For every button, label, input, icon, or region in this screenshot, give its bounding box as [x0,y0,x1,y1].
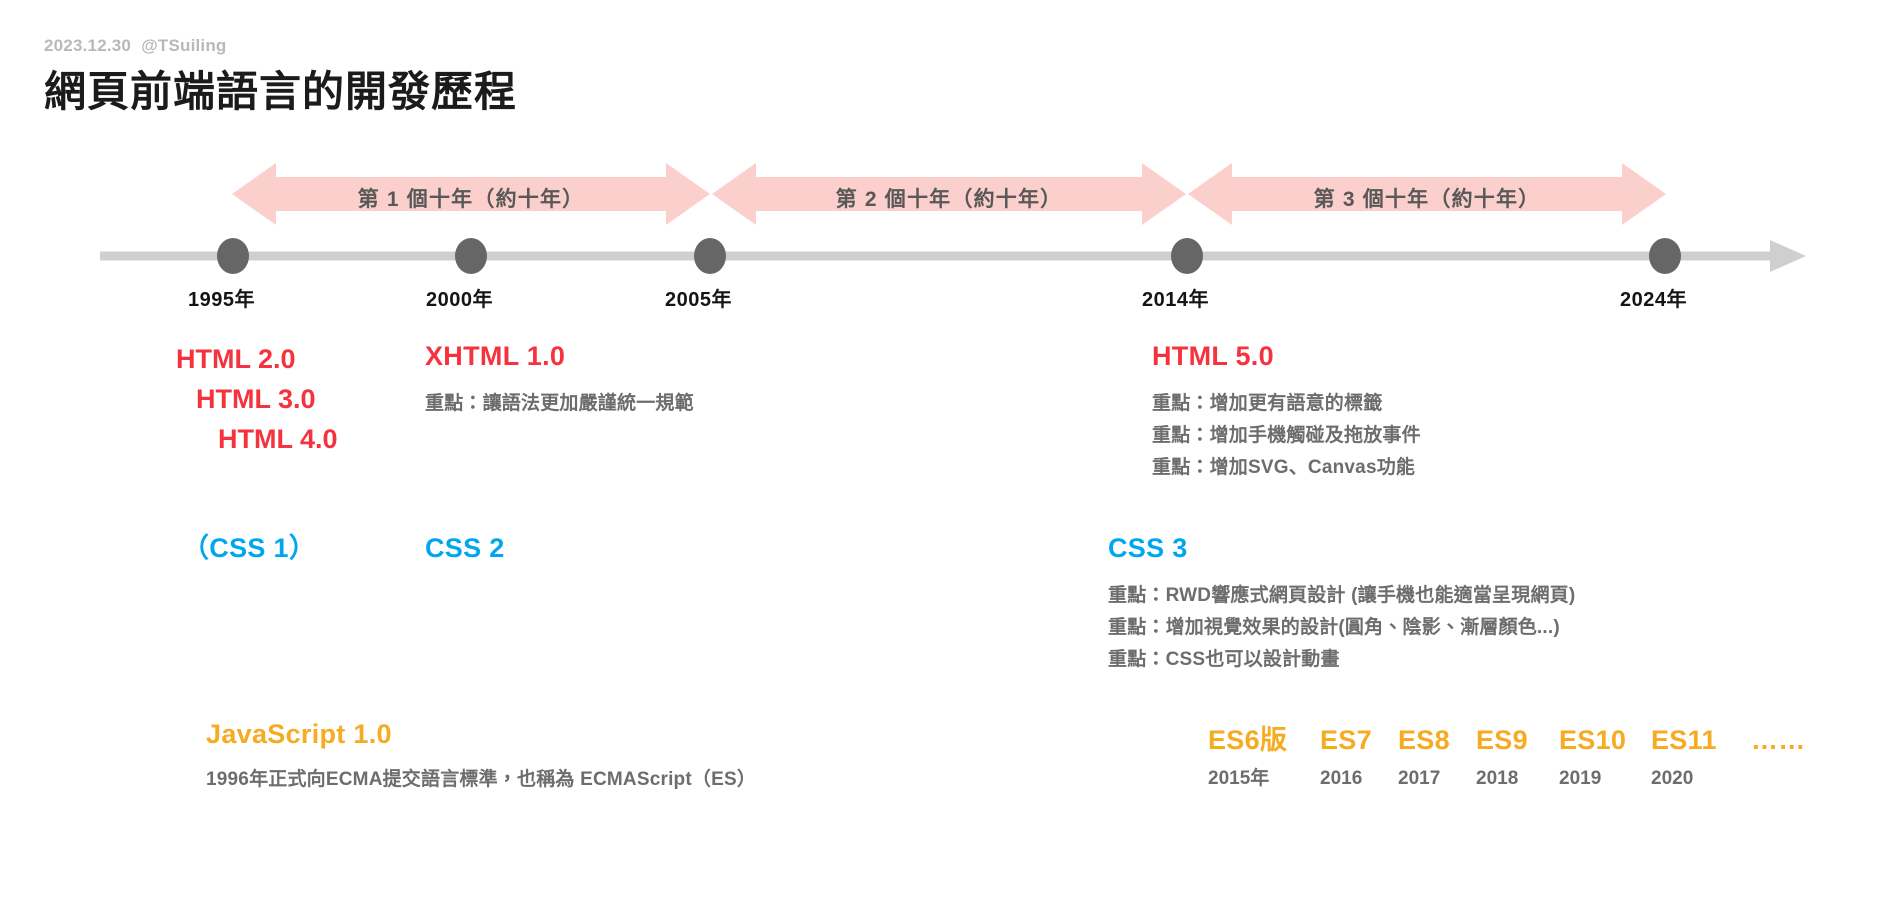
es-year-2019: 2019 [1559,768,1651,790]
xhtml-heading: XHTML 1.0 [425,340,694,374]
timeline-dot-1995[interactable] [217,238,249,274]
es-name-es10: ES10 [1559,725,1651,756]
html5-note-1: 重點：增加更有語意的標籤 [1152,388,1421,420]
html5-note-3: 重點：增加SVG、Canvas功能 [1152,452,1421,484]
es-year-2015: 2015年 [1208,763,1320,790]
es-name-es9: ES9 [1476,725,1559,756]
javascript-note-1: 1996年正式向ECMA提交語言標準，也稱為 ECMAScript（ES） [206,764,756,796]
timeline-label-2005: 2005年 [665,283,732,312]
css3-note-1: 重點：RWD響應式網頁設計 (讓手機也能適當呈現網頁) [1108,580,1575,612]
timeline-label-2024: 2024年 [1620,283,1687,312]
css2-heading: CSS 2 [425,532,505,566]
html-version-4: HTML 4.0 [176,420,338,460]
timeline-dot-2014[interactable] [1171,238,1203,274]
timeline-dot-2000[interactable] [455,238,487,274]
timeline-dot-2024[interactable] [1649,238,1681,274]
html-version-3: HTML 3.0 [176,380,338,420]
ecmascript-version-names: ES6版ES7ES8ES9ES10ES11…… [1208,718,1806,757]
ecmascript-version-years: 2015年20162017201820192020 [1208,763,1806,790]
es-year-2016: 2016 [1320,768,1398,790]
html-versions-1995-block: HTML 2.0 HTML 3.0 HTML 4.0 [176,340,338,460]
timeline-axis [0,0,1900,300]
timeline-label-1995: 1995年 [188,283,255,312]
es-name-es6: ES6版 [1208,718,1320,757]
javascript-1995-block: JavaScript 1.0 1996年正式向ECMA提交語言標準，也稱為 EC… [206,718,756,796]
html5-2014-block: HTML 5.0 重點：增加更有語意的標籤 重點：增加手機觸碰及拖放事件 重點：… [1152,340,1421,483]
html-version-2: HTML 2.0 [176,340,338,380]
infographic-canvas: 2023.12.30@TSuiling 網頁前端語言的開發歷程 第 1 個十年（… [0,0,1900,900]
timeline-dot-2005[interactable] [694,238,726,274]
xhtml-note-1: 重點：讓語法更加嚴謹統一規範 [425,388,694,420]
html5-note-2: 重點：增加手機觸碰及拖放事件 [1152,420,1421,452]
timeline-label-2000: 2000年 [426,283,493,312]
es-name-es11: ES11 [1651,725,1751,756]
xhtml-2000-block: XHTML 1.0 重點：讓語法更加嚴謹統一規範 [425,340,694,420]
es-name-ellipsis: …… [1751,725,1806,756]
es-year-2018: 2018 [1476,768,1559,790]
ecmascript-versions-block: ES6版ES7ES8ES9ES10ES11…… 2015年20162017201… [1208,718,1806,790]
css3-note-2: 重點：增加視覺效果的設計(圓角、陰影、漸層顏色...) [1108,612,1575,644]
es-name-es8: ES8 [1398,725,1476,756]
css2-2000-block: CSS 2 [425,532,505,566]
timeline-label-2014: 2014年 [1142,283,1209,312]
css1-heading: （CSS 1） [182,532,316,566]
es-year-2017: 2017 [1398,768,1476,790]
javascript-heading: JavaScript 1.0 [206,718,756,752]
axis-arrowhead-icon [1770,240,1806,272]
css1-1995-block: （CSS 1） [182,532,316,566]
css3-2014-block: CSS 3 重點：RWD響應式網頁設計 (讓手機也能適當呈現網頁) 重點：增加視… [1108,532,1575,675]
html5-heading: HTML 5.0 [1152,340,1421,374]
css3-note-3: 重點：CSS也可以設計動畫 [1108,644,1575,676]
css3-heading: CSS 3 [1108,532,1575,566]
es-name-es7: ES7 [1320,725,1398,756]
es-year-2020: 2020 [1651,768,1751,790]
